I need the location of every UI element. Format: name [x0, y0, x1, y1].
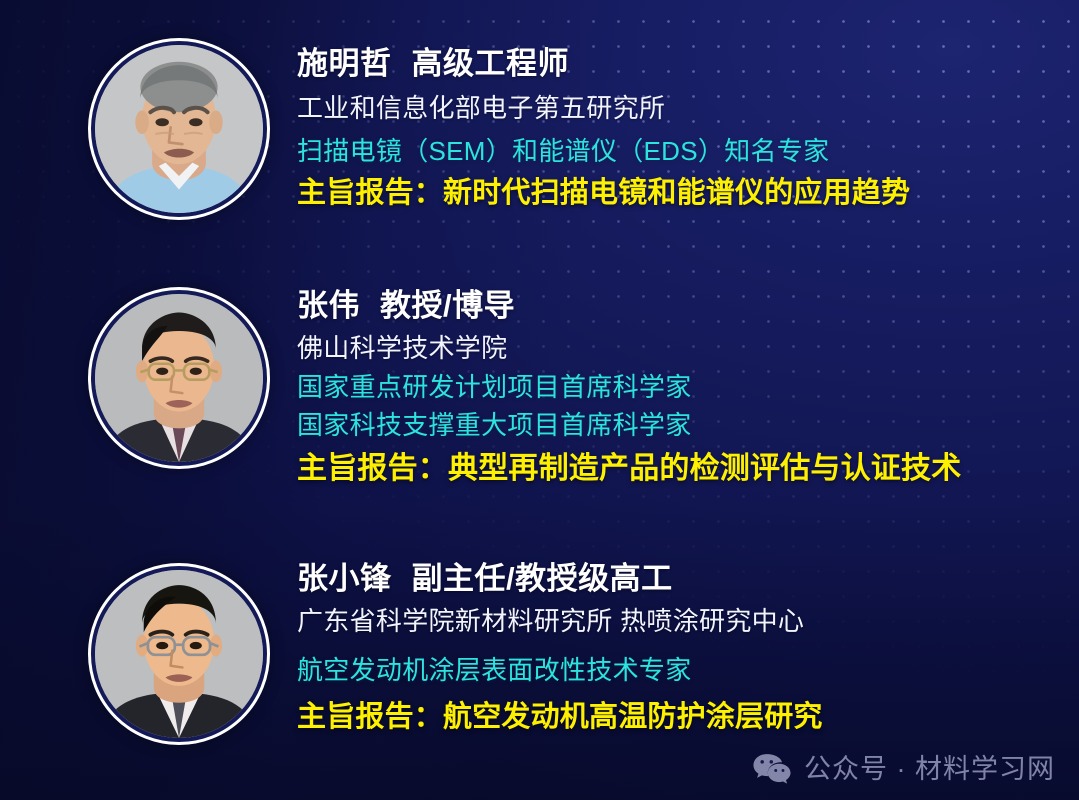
speaker-info: 张小锋副主任/教授级高工 广东省科学院新材料研究所 热喷涂研究中心 航空发动机涂…	[297, 555, 1073, 737]
speaker-title: 教授/博导	[380, 288, 515, 323]
speaker-info: 施明哲高级工程师 工业和信息化部电子第五研究所 扫描电镜（SEM）和能谱仪（ED…	[297, 30, 1073, 213]
speaker-organization: 广东省科学院新材料研究所 热喷涂研究中心	[297, 603, 1073, 640]
speaker-tag: 国家重点研发计划项目首席科学家	[297, 369, 1073, 406]
speaker-topic: 主旨报告：新时代扫描电镜和能谱仪的应用趋势	[297, 174, 1073, 213]
speaker-title: 高级工程师	[412, 46, 570, 81]
avatar	[88, 38, 270, 220]
speaker-name: 施明哲	[297, 46, 392, 81]
speaker-organization: 工业和信息化部电子第五研究所	[297, 90, 1073, 127]
speaker-organization: 佛山科学技术学院	[297, 330, 1073, 367]
avatar	[88, 287, 270, 469]
speaker-title: 副主任/教授级高工	[412, 561, 673, 596]
avatar-photo-zhang-xiaofeng	[95, 570, 263, 738]
avatar-photo-shi-mingzhe	[95, 45, 263, 213]
speaker-lineup-poster: 施明哲高级工程师 工业和信息化部电子第五研究所 扫描电镜（SEM）和能谱仪（ED…	[0, 0, 1079, 800]
watermark-text: 公众号 · 材料学习网	[804, 756, 1055, 783]
speaker-name-line: 张小锋副主任/教授级高工	[297, 559, 1073, 599]
speaker-card-2[interactable]: 张伟教授/博导 佛山科学技术学院 国家重点研发计划项目首席科学家 国家科技支撑重…	[0, 280, 1079, 505]
speaker-topic: 主旨报告：航空发动机高温防护涂层研究	[297, 698, 1073, 737]
wechat-icon	[752, 752, 792, 786]
speaker-card-1[interactable]: 施明哲高级工程师 工业和信息化部电子第五研究所 扫描电镜（SEM）和能谱仪（ED…	[0, 30, 1079, 240]
speaker-list: 施明哲高级工程师 工业和信息化部电子第五研究所 扫描电镜（SEM）和能谱仪（ED…	[0, 0, 1079, 800]
speaker-card-3[interactable]: 张小锋副主任/教授级高工 广东省科学院新材料研究所 热喷涂研究中心 航空发动机涂…	[0, 555, 1079, 750]
speaker-info: 张伟教授/博导 佛山科学技术学院 国家重点研发计划项目首席科学家 国家科技支撑重…	[297, 280, 1073, 490]
watermark: 公众号 · 材料学习网	[752, 752, 1055, 786]
avatar-photo-zhang-wei	[95, 294, 263, 462]
speaker-name-line: 施明哲高级工程师	[297, 44, 1073, 84]
speaker-name-line: 张伟教授/博导	[297, 286, 1073, 326]
speaker-name: 张小锋	[297, 561, 392, 596]
speaker-tag: 国家科技支撑重大项目首席科学家	[297, 407, 1073, 444]
speaker-topic: 主旨报告：典型再制造产品的检测评估与认证技术	[297, 449, 1073, 489]
avatar	[88, 563, 270, 745]
speaker-name: 张伟	[297, 288, 360, 323]
speaker-tag: 扫描电镜（SEM）和能谱仪（EDS）知名专家	[297, 133, 1073, 170]
speaker-tag: 航空发动机涂层表面改性技术专家	[297, 652, 1073, 689]
